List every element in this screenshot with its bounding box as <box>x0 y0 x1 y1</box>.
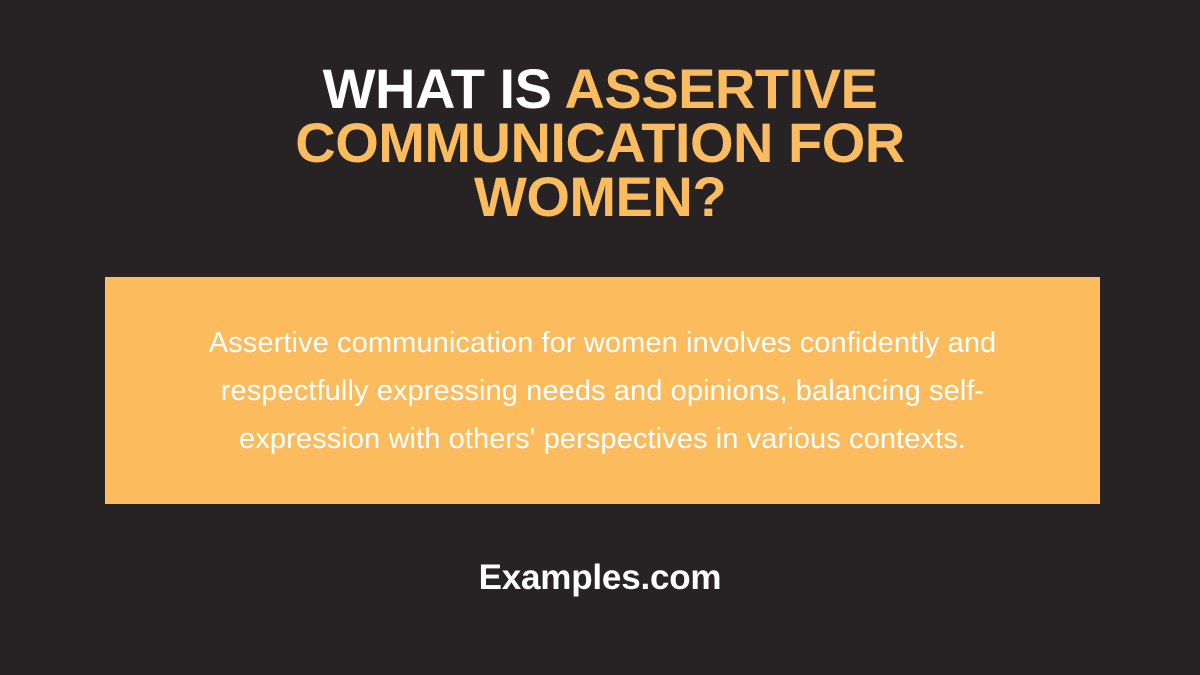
definition-text: Assertive communication for women involv… <box>163 319 1043 463</box>
footer: Examples.com <box>0 558 1200 598</box>
slide-canvas: WHAT IS ASSERTIVE COMMUNICATION FOR WOME… <box>0 0 1200 675</box>
title-line-1: WHAT IS ASSERTIVE <box>100 62 1100 116</box>
page-title: WHAT IS ASSERTIVE COMMUNICATION FOR WOME… <box>100 62 1100 224</box>
brand-logo-text: Examples.com <box>479 558 722 597</box>
title-line-3: WOMEN? <box>100 170 1100 224</box>
definition-callout-panel: Assertive communication for women involv… <box>105 277 1100 504</box>
title-line-2: COMMUNICATION FOR <box>100 116 1100 170</box>
